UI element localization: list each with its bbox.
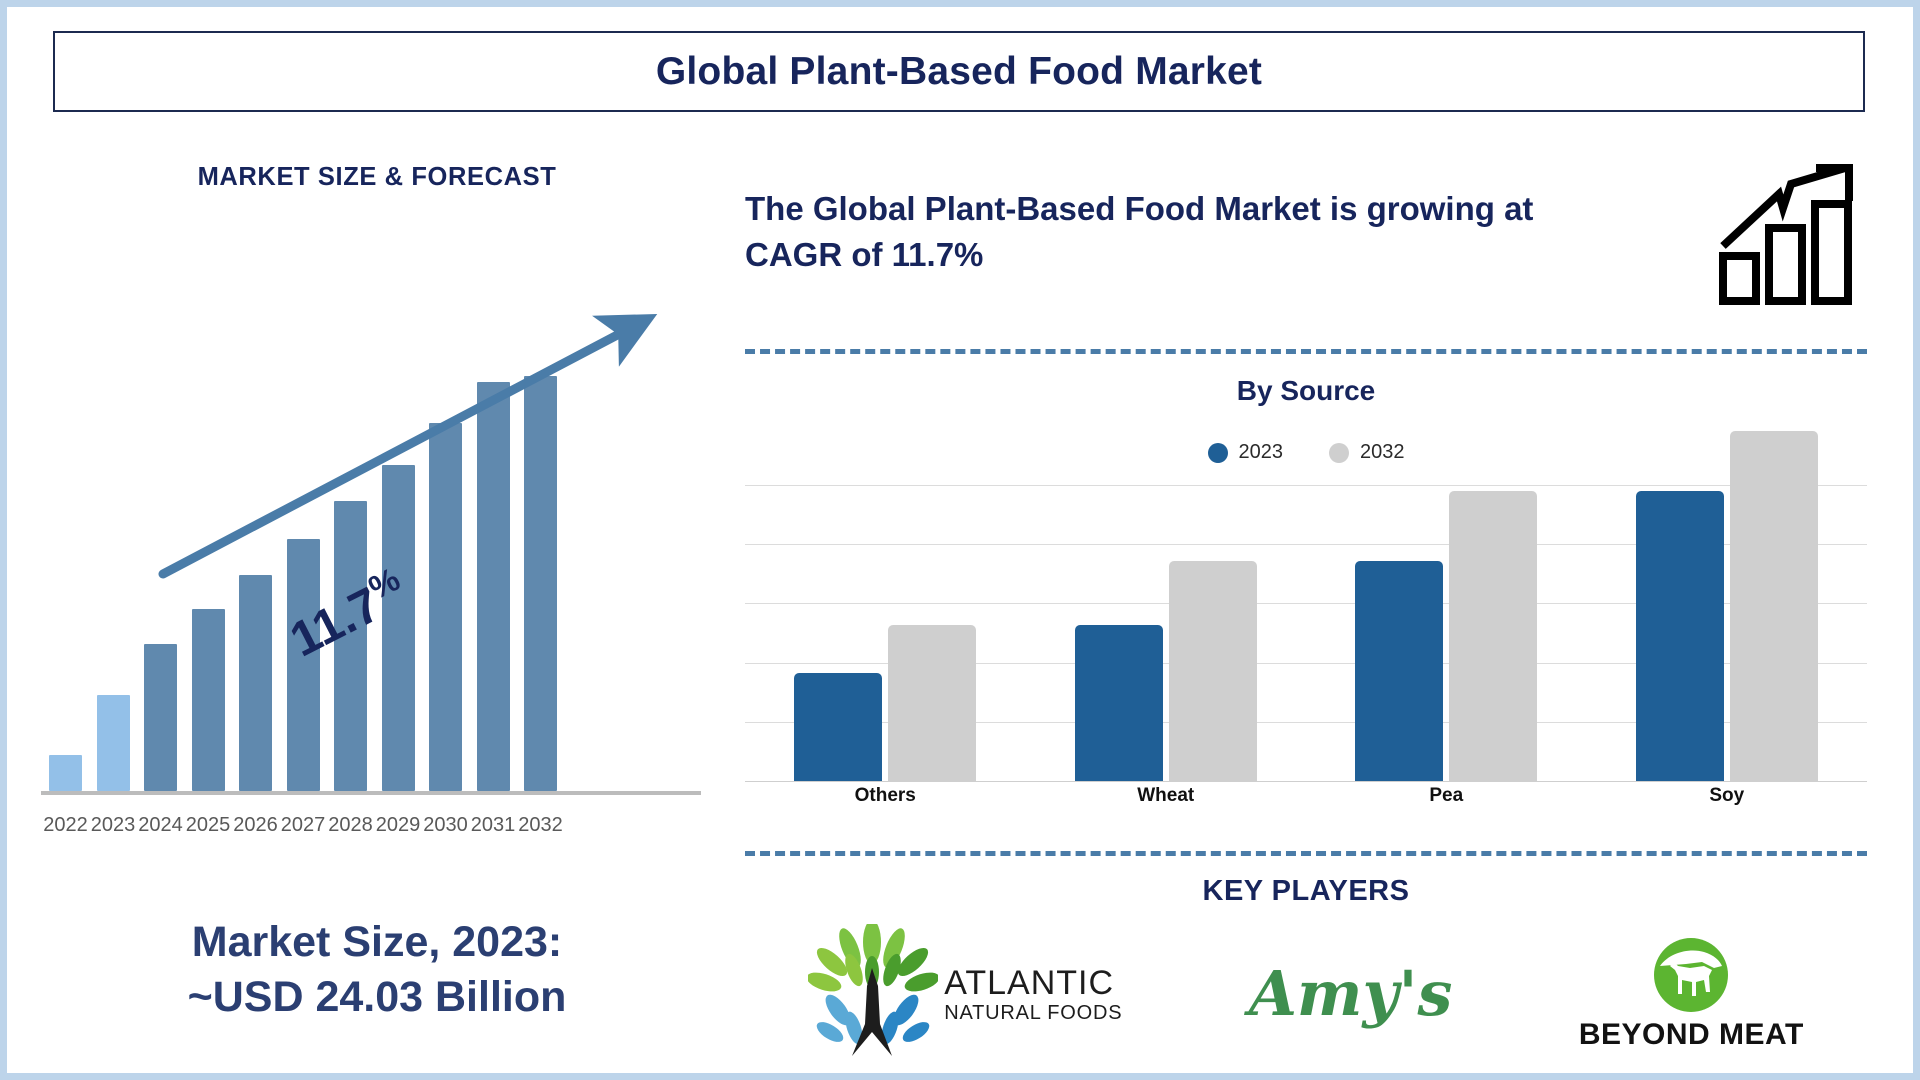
legend-item-2032[interactable]: 2032 bbox=[1329, 441, 1405, 464]
source-category-label-pea: Pea bbox=[1306, 785, 1587, 807]
page-title: Global Plant-Based Food Market bbox=[656, 50, 1262, 94]
source-bar-pea-2032 bbox=[1449, 491, 1537, 781]
source-bar-wheat-2032 bbox=[1169, 561, 1257, 781]
amys-script-logo: Amy's bbox=[1249, 963, 1453, 1025]
key-players-logos: ATLANTIC NATURAL FOODS Amy's BEYOND MEAT bbox=[745, 919, 1867, 1069]
cagr-headline: The Global Plant-Based Food Market is gr… bbox=[745, 186, 1605, 277]
market-size-forecast-chart: 2022202320242025202620272028202920302031… bbox=[35, 267, 715, 967]
beyond-meat-logo bbox=[1652, 936, 1730, 1014]
source-bar-others-2023 bbox=[794, 673, 882, 781]
logo-amys: Amy's bbox=[1249, 963, 1453, 1025]
legend-item-2023[interactable]: 2023 bbox=[1208, 441, 1284, 464]
by-source-legend: 20232032 bbox=[745, 441, 1867, 464]
legend-label-2023: 2023 bbox=[1239, 441, 1284, 464]
by-source-title: By Source bbox=[745, 375, 1867, 407]
key-players-title: KEY PLAYERS bbox=[745, 875, 1867, 908]
divider-bottom bbox=[745, 851, 1867, 856]
legend-dot-2023 bbox=[1208, 443, 1228, 463]
source-bar-soy-2023 bbox=[1636, 491, 1724, 781]
source-category-label-soy: Soy bbox=[1587, 785, 1868, 807]
by-source-plot-area: OthersWheatPeaSoy bbox=[745, 485, 1867, 781]
legend-dot-2032 bbox=[1329, 443, 1349, 463]
forecast-plot-area: 2022202320242025202620272028202920302031… bbox=[35, 309, 715, 879]
right-panel: The Global Plant-Based Food Market is gr… bbox=[745, 137, 1867, 1067]
atlantic-logo-line-1: ATLANTIC bbox=[944, 966, 1122, 1000]
by-source-chart: OthersWheatPeaSoy bbox=[745, 485, 1867, 795]
logo-beyond-meat: BEYOND MEAT bbox=[1579, 936, 1804, 1052]
gridline-5 bbox=[745, 781, 1867, 782]
gridline-0 bbox=[745, 485, 1867, 486]
source-bar-wheat-2023 bbox=[1075, 625, 1163, 781]
atlantic-tree-logo bbox=[808, 924, 938, 1064]
divider-top bbox=[745, 349, 1867, 354]
logo-atlantic-natural-foods: ATLANTIC NATURAL FOODS bbox=[808, 924, 1122, 1064]
market-size-forecast-heading: MARKET SIZE & FORECAST bbox=[17, 163, 737, 192]
market-size-line-1: Market Size, 2023: bbox=[17, 915, 737, 970]
legend-label-2032: 2032 bbox=[1360, 441, 1405, 464]
atlantic-logo-line-2: NATURAL FOODS bbox=[944, 1003, 1122, 1023]
growth-chart-icon bbox=[1717, 160, 1867, 305]
market-size-callout: Market Size, 2023: ~USD 24.03 Billion bbox=[17, 915, 737, 1025]
source-category-label-wheat: Wheat bbox=[1026, 785, 1307, 807]
source-bar-soy-2032 bbox=[1730, 431, 1818, 781]
market-size-line-2: ~USD 24.03 Billion bbox=[17, 970, 737, 1025]
title-box: Global Plant-Based Food Market bbox=[53, 31, 1865, 112]
source-bar-others-2032 bbox=[888, 625, 976, 781]
headline-row: The Global Plant-Based Food Market is gr… bbox=[745, 147, 1867, 317]
source-category-label-others: Others bbox=[745, 785, 1026, 807]
market-size-forecast-panel: MARKET SIZE & FORECAST 20222023202420252… bbox=[17, 137, 737, 1067]
beyond-meat-wordmark: BEYOND MEAT bbox=[1579, 1018, 1804, 1052]
infographic-page: Global Plant-Based Food Market MARKET SI… bbox=[0, 0, 1920, 1080]
source-bar-pea-2023 bbox=[1355, 561, 1443, 781]
